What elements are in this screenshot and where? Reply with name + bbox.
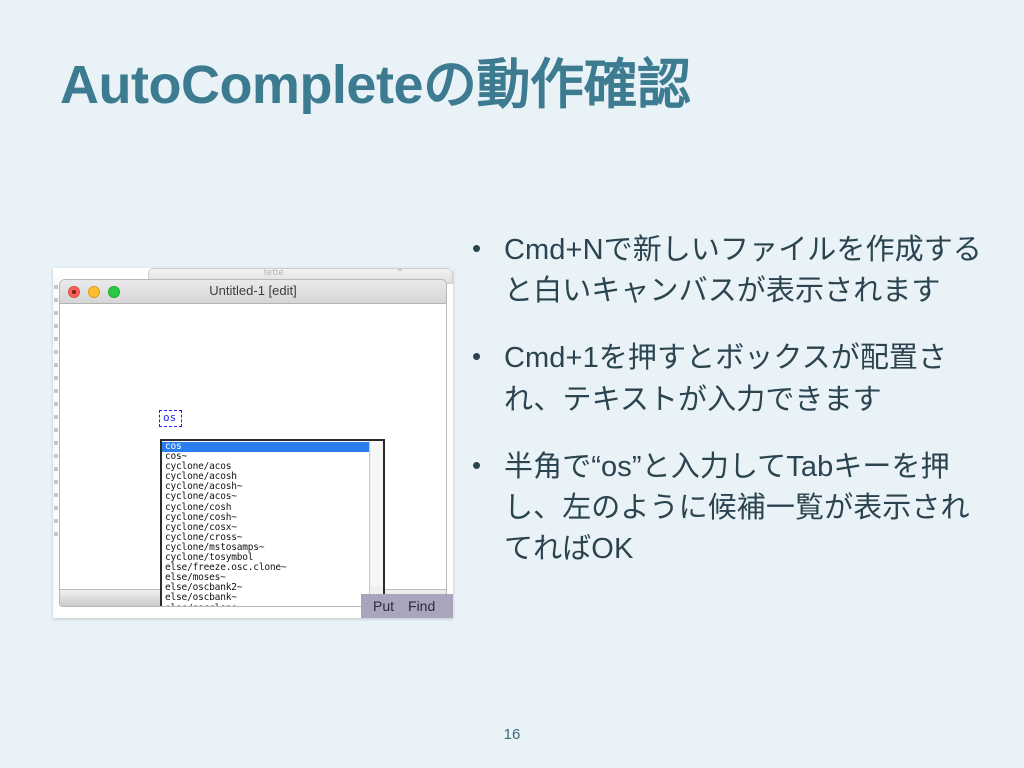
autocomplete-list[interactable]: cos cos~ cyclone/acos cyclone/acosh cycl… xyxy=(162,441,369,607)
autocomplete-item[interactable]: else/oscclone xyxy=(162,604,369,608)
page-number: 16 xyxy=(0,726,1024,743)
list-item-text: Cmd+1を押すとボックスが配置され、テキストが入力できます xyxy=(504,338,992,420)
window-title: Untitled-1 [edit] xyxy=(60,283,446,298)
chevron-up-icon: ⌃ xyxy=(396,268,404,279)
scrollbar-thumb[interactable] xyxy=(371,441,382,586)
list-item: • Cmd+Nで新しいファイルを作成すると白いキャンバスが表示されます xyxy=(472,230,992,312)
pd-canvas[interactable]: os cos cos~ cyclone/acos cyclone/acosh c… xyxy=(60,304,446,589)
list-item: • 半角で“os”と入力してTabキーを押し、左のように候補一覧が表示されてれば… xyxy=(472,447,992,571)
embedded-screenshot-image: tette ⌃ Untitled-1 [edit] os cos cos~ xyxy=(53,268,453,618)
background-window-title: tette xyxy=(264,268,284,277)
bullet-marker-icon: • xyxy=(472,447,504,484)
menu-item-put[interactable]: Put xyxy=(373,598,394,614)
list-item-text: 半角で“os”と入力してTabキーを押し、左のように候補一覧が表示されてればOK xyxy=(504,447,992,571)
bullet-marker-icon: • xyxy=(472,338,504,375)
list-item: • Cmd+1を押すとボックスが配置され、テキストが入力できます xyxy=(472,338,992,420)
window-titlebar: Untitled-1 [edit] xyxy=(60,280,446,304)
autocomplete-popup[interactable]: cos cos~ cyclone/acos cyclone/acosh cycl… xyxy=(160,439,385,607)
menu-strip: Put Find xyxy=(361,594,453,618)
bullet-marker-icon: • xyxy=(472,230,504,267)
menu-item-find[interactable]: Find xyxy=(408,598,435,614)
bullet-list: • Cmd+Nで新しいファイルを作成すると白いキャンバスが表示されます • Cm… xyxy=(472,230,992,596)
object-box-os[interactable]: os xyxy=(159,410,182,427)
page-title: AutoCompleteの動作確認 xyxy=(60,40,690,119)
autocomplete-item[interactable]: else/oscbank~ xyxy=(162,593,369,603)
autocomplete-item[interactable]: cos xyxy=(162,442,369,452)
pd-patch-window: Untitled-1 [edit] os cos cos~ cyclone/ac… xyxy=(59,279,447,607)
list-item-text: Cmd+Nで新しいファイルを作成すると白いキャンバスが表示されます xyxy=(504,230,992,312)
scrollbar[interactable] xyxy=(369,441,383,607)
